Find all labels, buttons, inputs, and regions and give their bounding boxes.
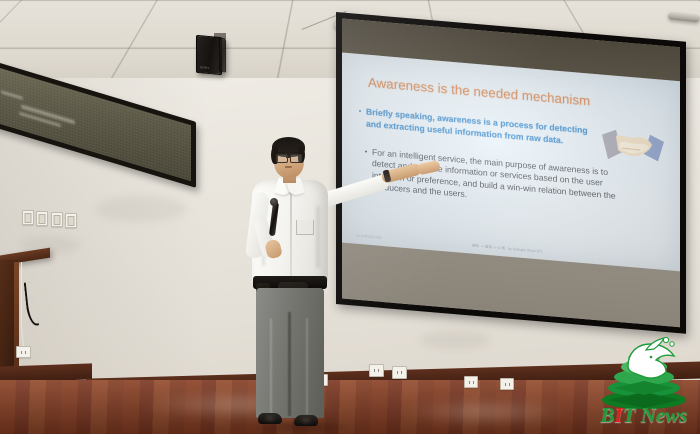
shirt-placket: [290, 192, 292, 284]
trouser-crease: [270, 318, 272, 414]
shoe-highlight: [264, 416, 276, 421]
trouser-crease: [306, 318, 308, 414]
light-switch-rocker[interactable]: [68, 216, 75, 226]
handshake-illustration: [602, 129, 664, 178]
light-switch-rocker[interactable]: [39, 214, 46, 224]
slide-content: Awareness is the needed mechanism Briefl…: [342, 53, 680, 272]
light-switch-rocker[interactable]: [54, 215, 61, 225]
eyebrow-right: [291, 152, 299, 154]
eyeglasses-lens-right: [290, 154, 302, 163]
wall-smudge: [96, 196, 186, 222]
outlet-holes: [467, 379, 475, 385]
trouser-inseam: [288, 312, 291, 416]
slide-bullet-1-text: Briefly speaking, awareness is a process…: [366, 107, 588, 145]
power-outlet[interactable]: [500, 378, 514, 390]
outlet-holes: [19, 349, 28, 355]
wall-smudge: [420, 330, 490, 350]
presenter-mouth: [285, 166, 292, 168]
light-switch-rocker[interactable]: [25, 213, 32, 223]
power-outlet[interactable]: [16, 346, 31, 358]
light-switch-plate[interactable]: [22, 210, 34, 225]
outlet-holes: [395, 369, 404, 376]
slide-title: Awareness is the needed mechanism: [368, 75, 668, 116]
bullet-marker: [359, 109, 361, 111]
wordmark-rest: T News: [623, 403, 688, 427]
presenter-upper-arm-right: [318, 173, 391, 208]
speaker-brand-label: SONY: [200, 65, 210, 70]
light-switch-plate[interactable]: [51, 212, 63, 227]
slide-bullet-2: For an intelligent service, the main pur…: [372, 147, 622, 214]
slide-footer-credit: 感知 -> 管知 -> U-知, by Qianglu Zhao (C): [472, 243, 542, 254]
wordmark-b: B: [601, 403, 615, 427]
wall-speaker-side: [219, 37, 226, 72]
eyebrow-left: [277, 152, 285, 154]
outlet-holes: [503, 381, 511, 387]
power-outlet[interactable]: [464, 376, 478, 388]
floor-reflection: [400, 400, 570, 424]
shoe-highlight: [300, 418, 312, 423]
eyeglasses-bridge: [286, 157, 291, 158]
light-switch-plate[interactable]: [65, 213, 77, 228]
bit-news-watermark: BIT News: [592, 332, 696, 432]
wordmark-i: I: [615, 403, 623, 427]
eyeglasses-lens-left: [276, 154, 288, 163]
presenter: [232, 136, 392, 434]
shirt-fold: [316, 206, 320, 268]
bit-news-wordmark: BIT News: [592, 403, 696, 428]
power-outlet[interactable]: [392, 366, 407, 379]
shirt-pocket: [296, 220, 314, 235]
photo-scene: SONY Awareness is the needed mechanism B…: [0, 0, 700, 434]
slide-bullet-1: Briefly speaking, awareness is a process…: [366, 107, 596, 150]
light-switch-plate[interactable]: [36, 211, 48, 226]
